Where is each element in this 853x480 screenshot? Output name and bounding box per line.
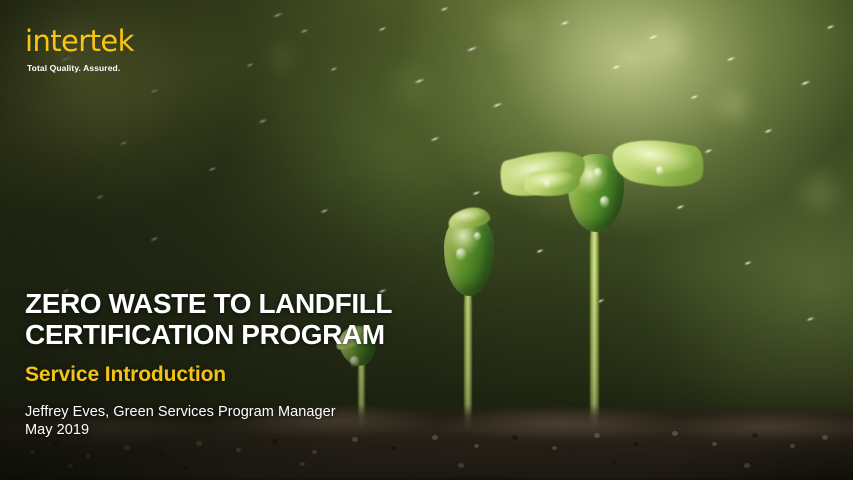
page-title: ZERO WASTE TO LANDFILL CERTIFICATION PRO… — [25, 288, 392, 350]
logo-tagline: Total Quality. Assured. — [27, 63, 134, 73]
logo-wordmark: intertek — [25, 27, 134, 56]
title-block: ZERO WASTE TO LANDFILL CERTIFICATION PRO… — [25, 288, 392, 439]
presenter-info: Jeffrey Eves, Green Services Program Man… — [25, 403, 392, 439]
title-slide: intertek Total Quality. Assured. ZERO WA… — [0, 0, 853, 480]
intertek-logo: intertek Total Quality. Assured. — [25, 27, 134, 73]
page-subtitle: Service Introduction — [25, 363, 392, 387]
presentation-date: May 2019 — [25, 421, 392, 439]
presenter-name-role: Jeffrey Eves, Green Services Program Man… — [25, 403, 392, 421]
